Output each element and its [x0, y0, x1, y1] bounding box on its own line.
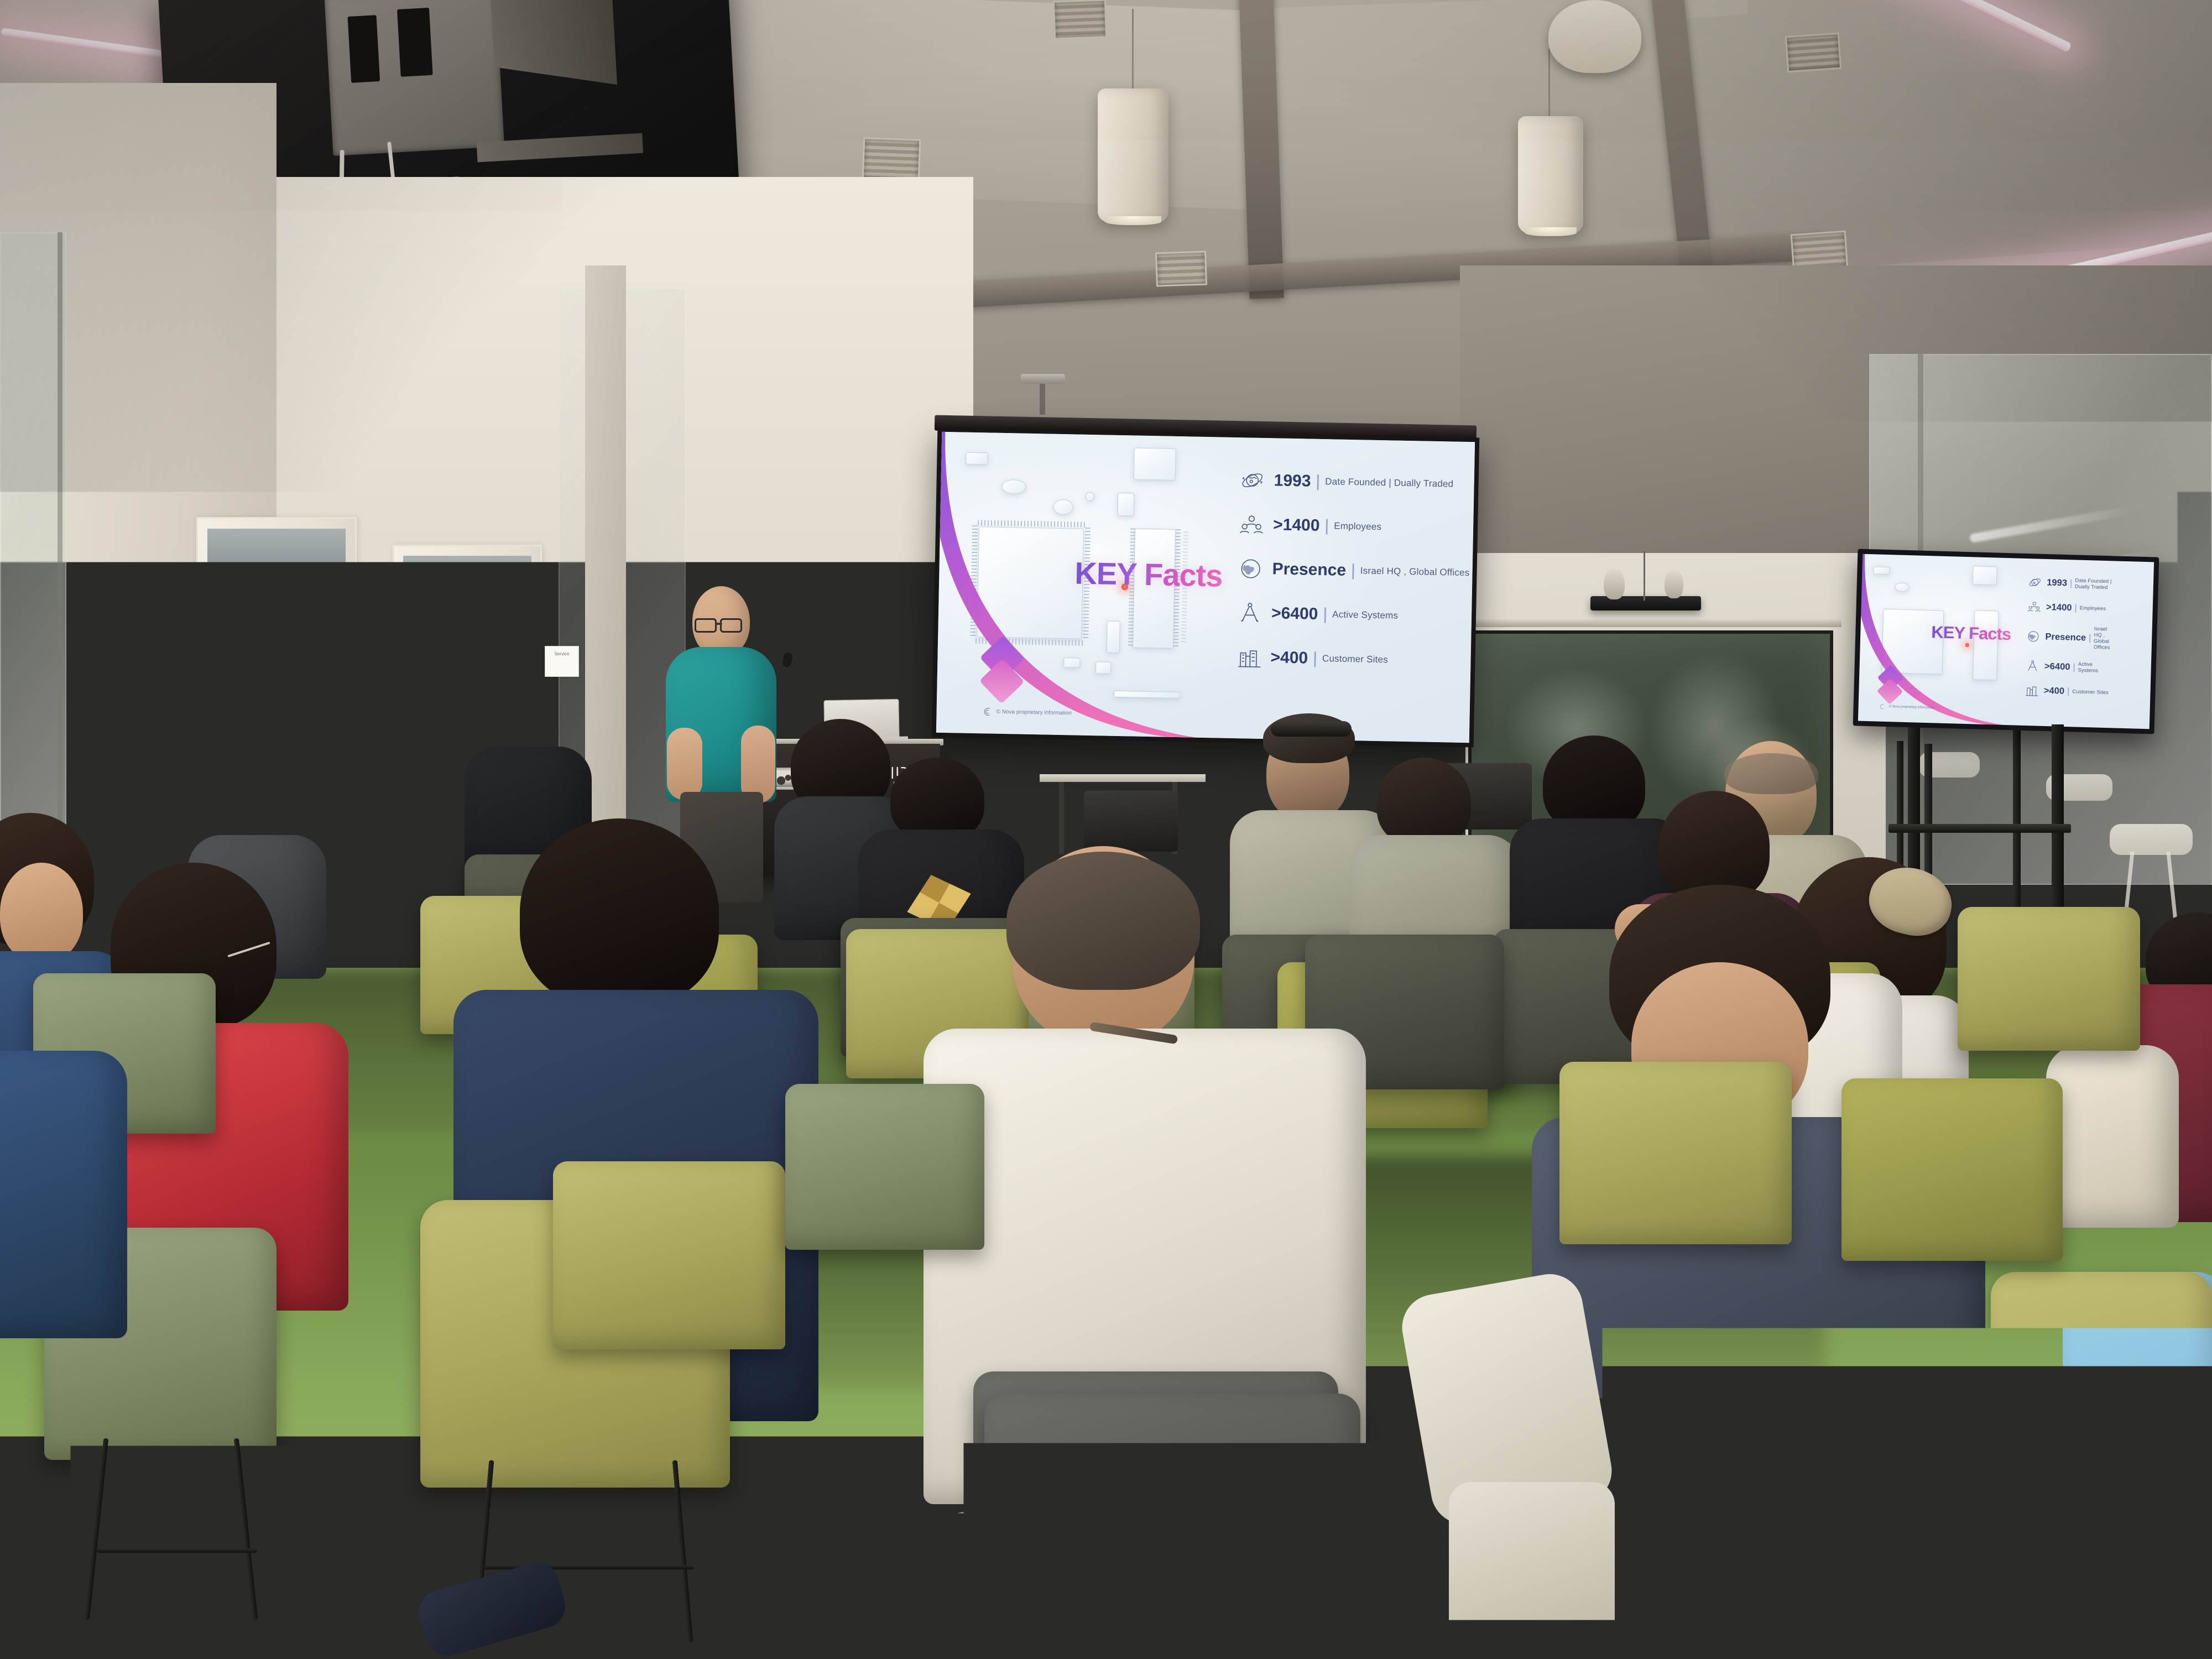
mount-arm [489, 0, 617, 91]
door-plate-text: Service [545, 651, 578, 656]
fact-value: >6400 [2044, 662, 2070, 672]
audience-hair [205, 724, 304, 852]
fact-label: Israel HQ , Global Offices [2094, 626, 2111, 651]
fact-value: >1400 [1273, 517, 1320, 534]
mount-hole [397, 8, 433, 77]
fact-separator: | [1324, 518, 1329, 534]
fact-value: >6400 [1271, 605, 1318, 623]
fact-value: 1993 [1274, 472, 1311, 489]
fact-separator: | [2067, 687, 2070, 696]
audience-legs [1449, 1482, 1615, 1659]
chair[interactable] [1631, 1338, 2007, 1659]
door-plate-number: 352 [166, 625, 206, 636]
fact-row: >400 | Customer Sites [2025, 683, 2109, 700]
people-group-icon [2027, 599, 2041, 614]
ceiling-vent [1785, 33, 1841, 73]
fact-label: Active Systems [2078, 661, 2110, 675]
office-chair [1084, 791, 1178, 852]
pendant-light [1098, 88, 1168, 222]
chair[interactable] [1841, 1078, 2063, 1261]
fact-separator: | [2089, 633, 2091, 643]
ceiling-vent [1155, 251, 1207, 286]
fact-label: Customer Sites [1322, 653, 1388, 665]
fact-value: >400 [2044, 686, 2065, 696]
door-transom [207, 529, 346, 568]
copyright-mark-icon [983, 707, 992, 716]
nova-logo [1879, 669, 1900, 690]
nova-logo [980, 641, 1042, 703]
glass-mullion [58, 232, 62, 830]
fact-separator: | [1313, 650, 1317, 667]
fact-row: >1400 | Employees [2027, 599, 2111, 616]
fact-label: Active Systems [1332, 609, 1398, 621]
tv-slide-surface: KEY Facts 1993 | Date Founded | Dually T… [1858, 554, 2154, 729]
door-plate-text: Lecture Room [166, 639, 206, 644]
audience-hair [520, 818, 719, 1006]
globe-icon [1238, 556, 1264, 582]
fact-row: 1993 | Date Founded | Dually Traded [1239, 467, 1472, 497]
slide-facts-list: 1993 | Date Founded | Dually Traded [1235, 467, 1471, 693]
wall-mounted-tv[interactable]: KEY Facts 1993 | Date Founded | Dually T… [1853, 549, 2159, 734]
globe-orbit-icon [1239, 467, 1265, 493]
lecture-hall-scene: 352 Lecture Room Service [0, 0, 2212, 1659]
door-plate-number [545, 646, 578, 649]
fact-row: Presence | Israel HQ , Global Offices [1238, 556, 1470, 586]
audience-hair [1006, 852, 1200, 990]
fact-value: 1993 [2047, 578, 2067, 588]
ceiling-vent [1053, 0, 1107, 40]
presenter-arm [741, 726, 775, 803]
mount-hole [348, 15, 380, 83]
door-plate-right: Service [545, 646, 579, 677]
fact-separator: | [1316, 473, 1320, 490]
glasses-bridge [716, 623, 722, 625]
fact-value: >400 [1270, 649, 1308, 666]
chair-crossbar [97, 1548, 257, 1553]
stage-light [1665, 570, 1683, 598]
chalk-tray [1465, 619, 1841, 627]
globe-icon [2026, 629, 2041, 644]
stage-light [1604, 568, 1625, 599]
fact-label: Customer Sites [2072, 688, 2109, 696]
projection-screen: KEY Facts 1993 | Date Founded [932, 427, 1480, 748]
chair[interactable] [1958, 907, 2140, 1051]
door-plate-left: 352 Lecture Room [166, 625, 207, 661]
antenna [1644, 551, 1645, 601]
fact-label: Employees [2080, 605, 2106, 612]
tv-stand-crossbar [1888, 824, 2071, 833]
chair-foreground[interactable] [984, 1394, 1360, 1659]
projector-arm [1040, 382, 1045, 415]
globe-orbit-icon [2028, 575, 2042, 589]
tv-slide-footer-text: © Nova proprietary information [1889, 705, 1934, 709]
pendant-light-cord [1548, 49, 1550, 119]
fact-label: Date Founded | Dually Traded [1325, 476, 1453, 489]
fact-separator: | [2073, 662, 2075, 672]
fact-separator: | [2070, 579, 2073, 588]
slide-title: KEY Facts [1074, 555, 1223, 593]
pendant-light [1518, 116, 1583, 233]
audience-head [0, 863, 83, 962]
factory-icon [2025, 683, 2039, 697]
audience-hair [1724, 753, 1818, 794]
chair[interactable] [1559, 1062, 1792, 1244]
glass-partition [0, 232, 66, 830]
people-group-icon [1239, 512, 1265, 538]
fact-label: Employees [1334, 520, 1381, 533]
sound-bar [1590, 596, 1701, 611]
audience-hair [1377, 758, 1471, 846]
copyright-mark-icon [1879, 704, 1885, 709]
presenter-glasses [695, 618, 717, 633]
compass-icon [1237, 600, 1263, 626]
fact-row: >1400 | Employees [1239, 512, 1471, 541]
fact-separator: | [1351, 562, 1355, 579]
sunglasses-on-head [1271, 721, 1352, 737]
factory-icon [1236, 644, 1262, 670]
table-leg [1059, 782, 1064, 854]
bar-stool-seat [2110, 824, 2193, 855]
fact-label: Israel HQ , Global Offices [1360, 565, 1470, 578]
concrete-pillar [585, 265, 626, 863]
chair[interactable] [553, 1161, 785, 1349]
presenter-arm [667, 728, 702, 800]
audience-torso [2046, 1045, 2179, 1228]
tv-slide-title: KEY Facts [1931, 622, 2011, 644]
compass-icon [2025, 659, 2039, 673]
slide-footer: © Nova proprietary information [983, 707, 1072, 718]
pendant-light-cord [1132, 9, 1134, 92]
side-table [1040, 774, 1206, 782]
fact-separator: | [2074, 603, 2077, 613]
projector-bracket [1021, 374, 1065, 384]
fact-value: Presence [2045, 632, 2086, 643]
slide-surface: KEY Facts 1993 | Date Founded [936, 432, 1475, 743]
tv-slide-facts: 1993 | Date Founded | Dually Traded >140… [2025, 575, 2112, 710]
chair[interactable] [1991, 1272, 2212, 1659]
fact-label: Date Founded | Dually Traded [2075, 577, 2112, 591]
ceiling-speaker [1548, 0, 1641, 73]
audience-torso [0, 1051, 127, 1338]
fact-value: >1400 [2046, 603, 2072, 613]
chair[interactable] [785, 1084, 984, 1250]
audience-hair [1543, 735, 1645, 832]
slide-footer-text: © Nova proprietary information [996, 709, 1072, 717]
fact-row: >6400 | Active Systems [1237, 600, 1469, 630]
fact-row: Presence | Israel HQ , Global Offices [2026, 624, 2111, 650]
fact-value: Presence [1272, 561, 1346, 579]
fact-separator: | [1323, 606, 1327, 623]
audience-hair [890, 758, 984, 841]
presenter-glasses [720, 618, 742, 633]
fact-row: >400 | Customer Sites [1236, 644, 1468, 674]
ceiling-vent [862, 137, 921, 181]
fact-row: 1993 | Date Founded | Dually Traded [2028, 575, 2112, 592]
fact-row: >6400 | Active Systems [2025, 659, 2110, 675]
door-transom [403, 556, 531, 593]
